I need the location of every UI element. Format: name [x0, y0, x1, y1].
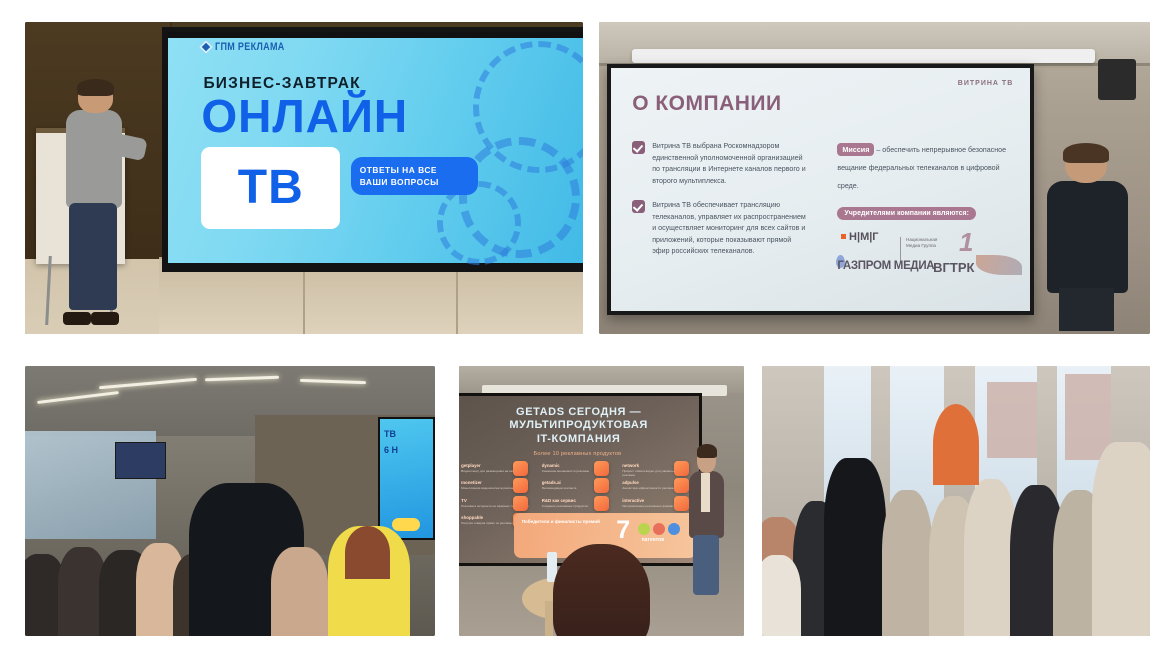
bullet-text: Витрина ТВ выбрана Роскомнадзором единст… — [652, 141, 808, 187]
table-leg — [545, 601, 554, 636]
product-icon — [513, 496, 528, 511]
speaker-shirt — [701, 473, 711, 512]
slide-title: О КОМПАНИИ — [632, 92, 781, 116]
ceiling-speaker — [1098, 59, 1137, 100]
patents-label: патентов — [642, 537, 665, 543]
slide-title-line1: GETADS СЕГОДНЯ — — [483, 406, 674, 419]
building-outside — [1065, 374, 1112, 460]
screen-line1: ТВ — [384, 429, 396, 439]
bullet-text: Витрина ТВ обеспечивает трансляцию телек… — [652, 200, 808, 257]
channel-one-logo: 1 — [959, 227, 973, 258]
slide-subtitle: Более 10 рекламных продуктов — [500, 451, 655, 457]
gpm-reklama-logo: ГПМ РЕКЛАМА — [201, 41, 300, 53]
speaker-figure — [60, 81, 138, 324]
product-item: getads.ai Рекомендации контента — [542, 480, 611, 490]
speaker-figure — [1045, 147, 1133, 328]
audience-person — [762, 555, 801, 636]
speaker-torso — [1047, 181, 1128, 293]
audience-person — [882, 490, 932, 636]
nmg-logo: Н|М|Г — [841, 231, 879, 243]
answers-badge-line1: ОТВЕТЫ НА ВСЕ — [360, 164, 469, 176]
product-icon — [594, 461, 609, 476]
photo-top-right: ВИТРИНА ТВ О КОМПАНИИ Витрина ТВ выбрана… — [599, 22, 1150, 334]
product-item: network Прирост охвата видео для уникаль… — [622, 463, 691, 477]
award-dots — [638, 523, 680, 535]
speaker-shoe — [91, 312, 119, 324]
answers-badge-line2: ВАШИ ВОПРОСЫ — [360, 176, 469, 188]
tv-card: ТВ — [201, 147, 340, 229]
check-icon — [632, 141, 645, 154]
slide-headline: ОНЛАЙН — [201, 93, 408, 139]
photo-bottom-center: GETADS СЕГОДНЯ — МУЛЬТИПРОДУКТОВАЯ IT-КО… — [459, 366, 744, 636]
product-icon — [594, 496, 609, 511]
founder-logos: Н|М|Г Национальная Медиа Группа 1 ГАЗПРО… — [837, 229, 1021, 287]
award-dot-icon — [668, 523, 680, 535]
bullets-column: Витрина ТВ выбрана Роскомнадзором единст… — [632, 141, 808, 270]
slide-title-line3: IT-КОМПАНИЯ — [483, 433, 674, 446]
nmg-sub-line2: Медиа Группа — [906, 243, 937, 249]
vgtrk-swoosh-icon — [976, 255, 1022, 275]
audience-person — [271, 547, 328, 636]
bullet-item: Витрина ТВ обеспечивает трансляцию телек… — [632, 200, 808, 257]
presentation-screen-getads: GETADS СЕГОДНЯ — МУЛЬТИПРОДУКТОВАЯ IT-КО… — [459, 393, 702, 566]
speaker-hair — [77, 79, 114, 96]
product-icon — [594, 478, 609, 493]
awards-banner-title: Победители и финалисты премий — [522, 519, 600, 524]
speaker-legs — [693, 535, 719, 595]
audience-person — [933, 404, 980, 485]
founders-block: Учредителями компании являются: Н|М|Г На… — [837, 202, 1021, 287]
product-item: R&D как сервис Создание рекламных продук… — [542, 498, 611, 508]
slide-title: GETADS СЕГОДНЯ — МУЛЬТИПРОДУКТОВАЯ IT-КО… — [483, 406, 674, 446]
audience-person — [1092, 442, 1150, 636]
award-dot-icon — [638, 523, 650, 535]
presentation-screen-about-company: ВИТРИНА ТВ О КОМПАНИИ Витрина ТВ выбрана… — [607, 64, 1034, 315]
mission-column: Миссия – обеспечить непрерывное безопасн… — [837, 139, 1013, 193]
audience-group — [25, 458, 435, 636]
speaker-shoe — [63, 312, 91, 324]
product-icon — [513, 478, 528, 493]
speaker-hair — [697, 444, 717, 458]
patents-number: 7 — [616, 520, 630, 540]
bullet-item: Витрина ТВ выбрана Роскомнадзором единст… — [632, 141, 808, 187]
tv-card-word: ТВ — [238, 164, 304, 212]
product-item: interactive Интерактивные рекламные форм… — [622, 498, 691, 508]
vgtrk-logo: ВГТРК — [933, 260, 974, 275]
photo-bottom-right — [762, 366, 1150, 636]
speaker-legs — [69, 203, 117, 310]
slide-title-line2: МУЛЬТИПРОДУКТОВАЯ — [483, 419, 674, 432]
check-icon — [632, 200, 645, 213]
award-dot-icon — [653, 523, 665, 535]
speaker-figure — [687, 447, 727, 598]
photo-bottom-left: ТВ 6 Н — [25, 366, 435, 636]
answers-badge: ОТВЕТЫ НА ВСЕ ВАШИ ВОПРОСЫ — [351, 157, 478, 195]
audience-person — [345, 526, 390, 579]
audience-person — [824, 458, 886, 636]
product-item: getplayer Видеоплеер для размещения на с… — [461, 463, 530, 473]
product-icon — [513, 461, 528, 476]
nmg-logo-text: Н|М|Г — [849, 231, 879, 243]
building-outside — [987, 382, 1037, 458]
product-item: adpulse Аналитика эффективности рекламы — [622, 480, 691, 490]
photo-collage: ГПМ РЕКЛАМА БИЗНЕС-ЗАВТРАК ОНЛАЙН ТВ ОТВ… — [0, 0, 1176, 662]
diamond-icon — [199, 40, 213, 54]
gazprom-media-logo: ГАЗПРОМ МЕДИА — [837, 260, 934, 272]
founders-tag: Учредителями компании являются: — [837, 207, 976, 220]
brand-logo-text: ГПМ РЕКЛАМА — [215, 41, 285, 53]
vitrina-tv-logo: ВИТРИНА ТВ — [958, 80, 1013, 87]
speaker-hair — [1063, 143, 1109, 163]
speaker-legs — [1059, 288, 1114, 331]
foreground-audience-head — [553, 544, 650, 636]
square-icon — [841, 234, 846, 239]
presentation-screen-online-tv: ГПМ РЕКЛАМА БИЗНЕС-ЗАВТРАК ОНЛАЙН ТВ ОТВ… — [162, 27, 583, 272]
product-item: TV Реклама в интернете на эфирных телека… — [461, 498, 530, 508]
product-item: monetizer Монетизация видеоконтента рекл… — [461, 480, 530, 490]
mission-tag: Миссия — [837, 143, 874, 156]
speaker-torso — [66, 110, 122, 207]
screen-line2: 6 Н — [384, 445, 398, 455]
product-item: dynamic Снижение мешаемости рекламы — [542, 463, 611, 473]
photo-top-left: ГПМ РЕКЛАМА БИЗНЕС-ЗАВТРАК ОНЛАЙН ТВ ОТВ… — [25, 22, 583, 334]
screen-roller-rail — [632, 49, 1095, 63]
